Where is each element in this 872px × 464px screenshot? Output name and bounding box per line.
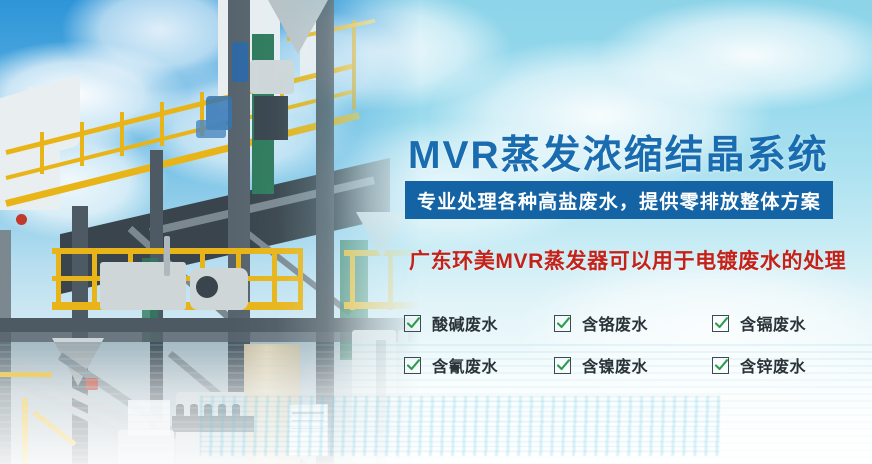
list-item: 含锌废水 (712, 353, 844, 377)
list-item-label: 含锌废水 (740, 353, 806, 377)
checkbox-checked-icon (712, 315, 729, 332)
list-item-label: 含镉废水 (740, 311, 806, 335)
list-item: 含镉废水 (712, 311, 844, 335)
list-item: 含镍废水 (554, 353, 712, 377)
subtitle-text: 专业处理各种高盐废水，提供零排放整体方案 (417, 187, 821, 214)
checkbox-checked-icon (712, 357, 729, 374)
checkbox-checked-icon (554, 315, 571, 332)
list-item-label: 含镍废水 (582, 353, 648, 377)
headline-text: 广东环美MVR蒸发器可以用于电镀废水的处理 (409, 245, 846, 275)
checkbox-checked-icon (404, 357, 421, 374)
promo-banner: MVR蒸发浓缩结晶系统 专业处理各种高盐废水，提供零排放整体方案 广东环美MVR… (0, 0, 872, 464)
list-item-label: 含氰废水 (432, 353, 498, 377)
banner-content: MVR蒸发浓缩结晶系统 专业处理各种高盐废水，提供零排放整体方案 广东环美MVR… (0, 0, 872, 464)
subtitle-bar: 专业处理各种高盐废水，提供零排放整体方案 (405, 181, 833, 219)
wastewater-type-checklist: 酸碱废水 含铬废水 含镉废水 含氰废水 (404, 302, 844, 386)
list-item-label: 酸碱废水 (432, 311, 498, 335)
checkbox-checked-icon (554, 357, 571, 374)
list-item-label: 含铬废水 (582, 311, 648, 335)
checkbox-checked-icon (404, 315, 421, 332)
page-title: MVR蒸发浓缩结晶系统 (408, 124, 829, 180)
list-item: 含铬废水 (554, 311, 712, 335)
list-item: 含氰废水 (404, 353, 554, 377)
list-item: 酸碱废水 (404, 311, 554, 335)
